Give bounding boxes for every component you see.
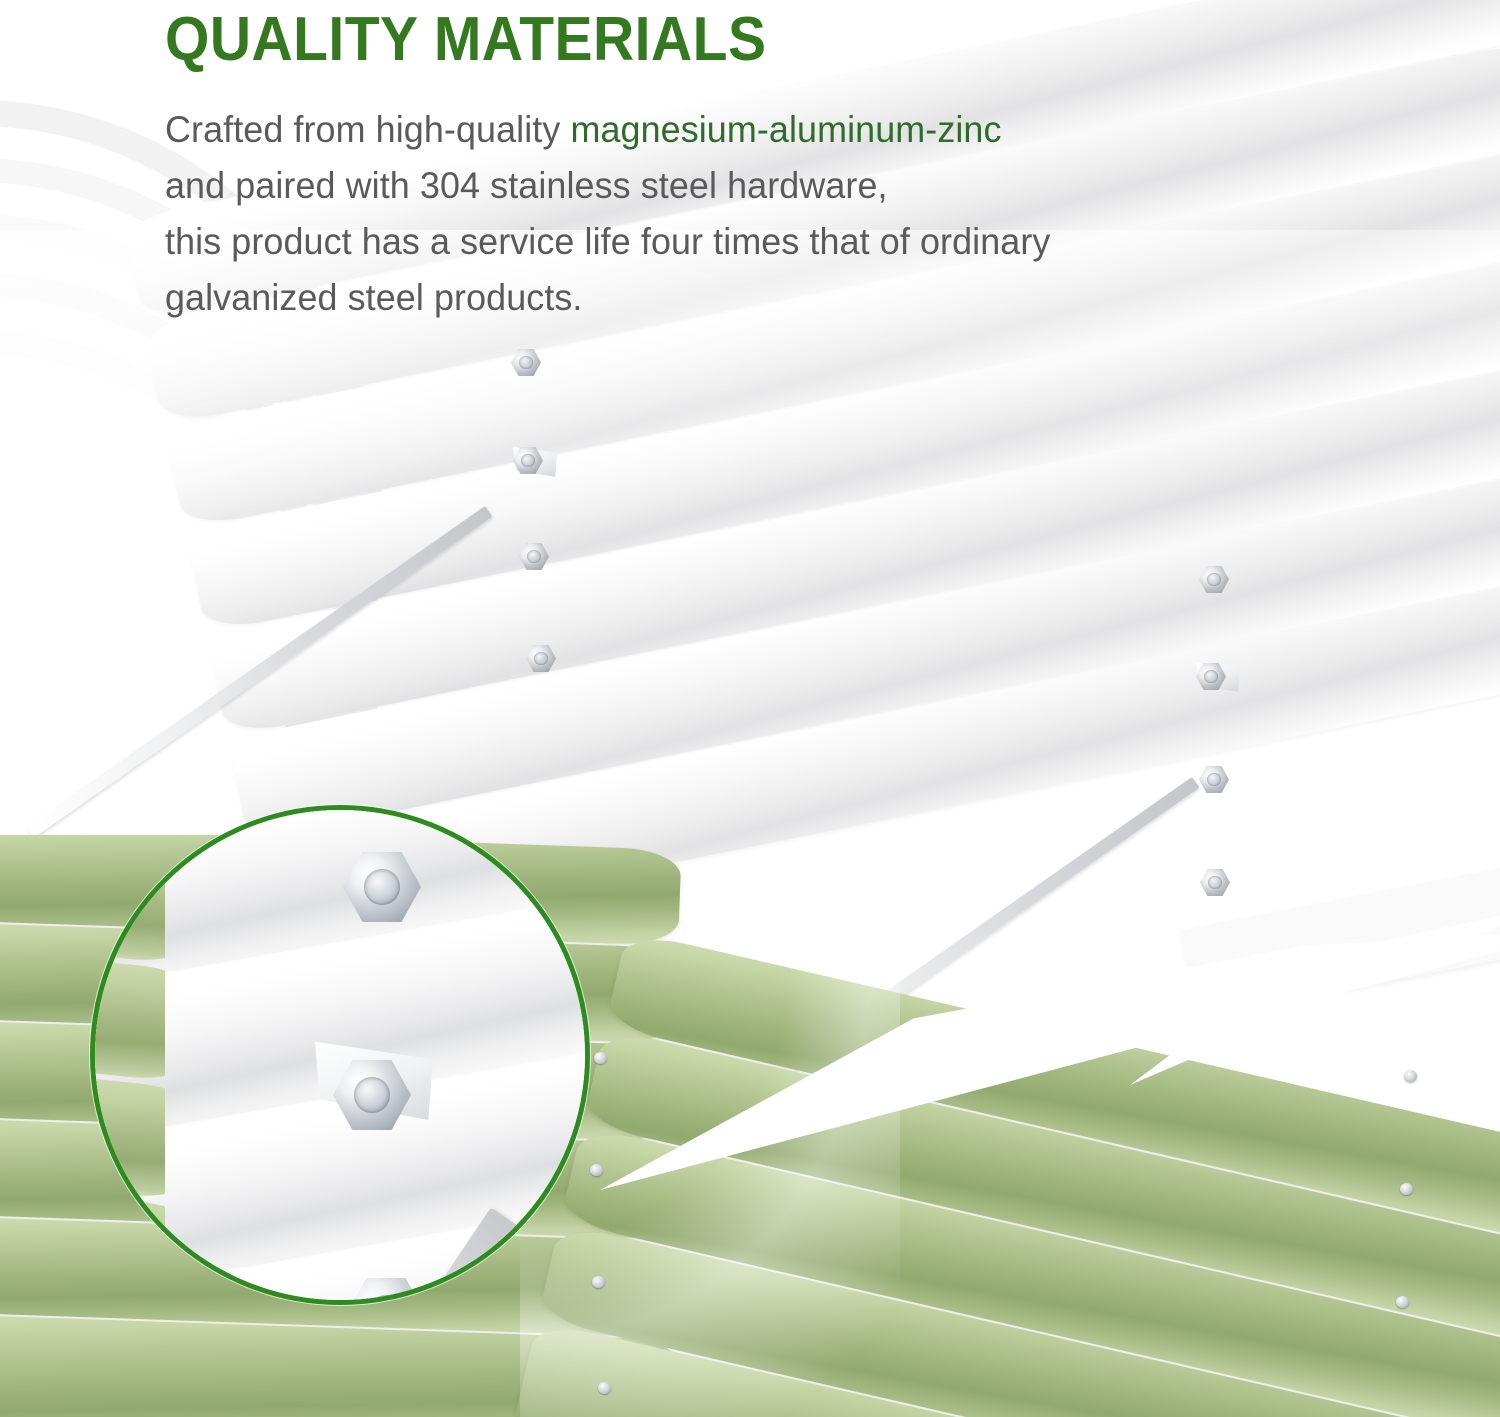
- panel-screw: [594, 1052, 607, 1064]
- panel-screw: [598, 1382, 611, 1394]
- magnified-detail-callout: [90, 805, 590, 1305]
- zoom-green-rib: [90, 1180, 165, 1305]
- product-feature-image: QUALITY MATERIALS Crafted from high-qual…: [0, 0, 1500, 1417]
- description-line-2: and paired with 304 stainless steel hard…: [165, 158, 1251, 214]
- zoom-green-rib: [90, 944, 165, 1085]
- panel-screw: [592, 1276, 605, 1288]
- panel-screw: [1404, 1070, 1417, 1082]
- panel-screw: [1400, 1183, 1413, 1195]
- text-block: QUALITY MATERIALS Crafted from high-qual…: [165, 0, 1285, 326]
- description-line-3: this product has a service life four tim…: [165, 214, 1251, 270]
- zoom-green-rib: [90, 1062, 165, 1203]
- description-paragraph: Crafted from high-quality magnesium-alum…: [165, 78, 1251, 326]
- panel-screw: [590, 1164, 603, 1176]
- magnified-scene: [90, 805, 590, 1305]
- description-line-1-text: Crafted from high-quality: [165, 109, 570, 150]
- material-highlight: magnesium-aluminum-zinc: [570, 109, 1001, 150]
- description-line-1: Crafted from high-quality magnesium-alum…: [165, 102, 1251, 158]
- zoom-green-rib: [90, 840, 165, 966]
- description-line-4: galvanized steel products.: [165, 270, 1251, 326]
- page-title: QUALITY MATERIALS: [165, 0, 1195, 78]
- panel-screw: [1396, 1296, 1409, 1308]
